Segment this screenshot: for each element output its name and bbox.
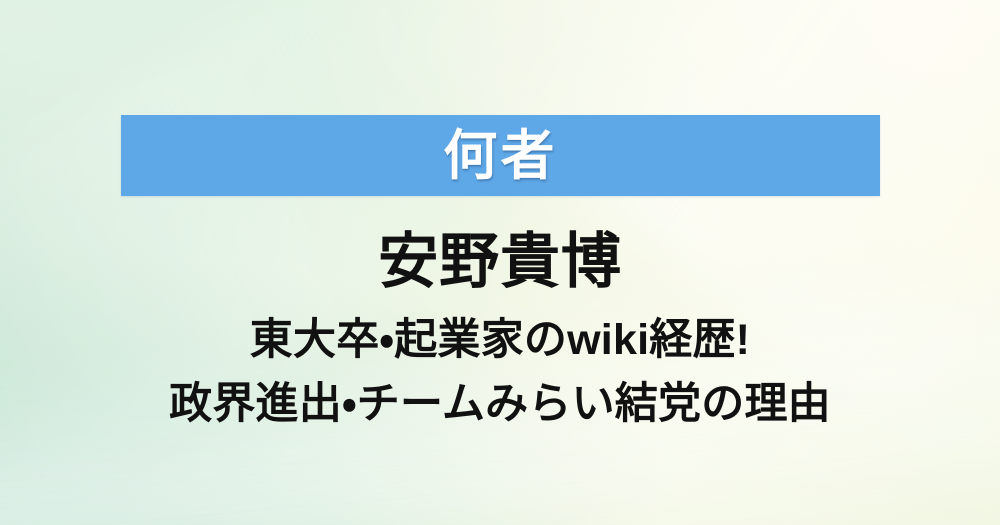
category-banner-label: 何者 [443,129,557,183]
content-layer: 何者 安野貴博 東大卒・起業家のwiki経歴! 政界進出・チームみらい結党の理由 [0,0,1000,525]
category-banner: 何者 [121,115,880,196]
headline-block: 安野貴博 東大卒・起業家のwiki経歴! 政界進出・チームみらい結党の理由 [0,228,1000,433]
eyecatch-canvas: 何者 安野貴博 東大卒・起業家のwiki経歴! 政界進出・チームみらい結党の理由 [0,0,1000,525]
headline-subtitle-line-1: 東大卒・起業家のwiki経歴! [0,311,1000,369]
headline-main-title: 安野貴博 [0,228,1000,295]
headline-subtitle-line-2: 政界進出・チームみらい結党の理由 [0,375,1000,433]
